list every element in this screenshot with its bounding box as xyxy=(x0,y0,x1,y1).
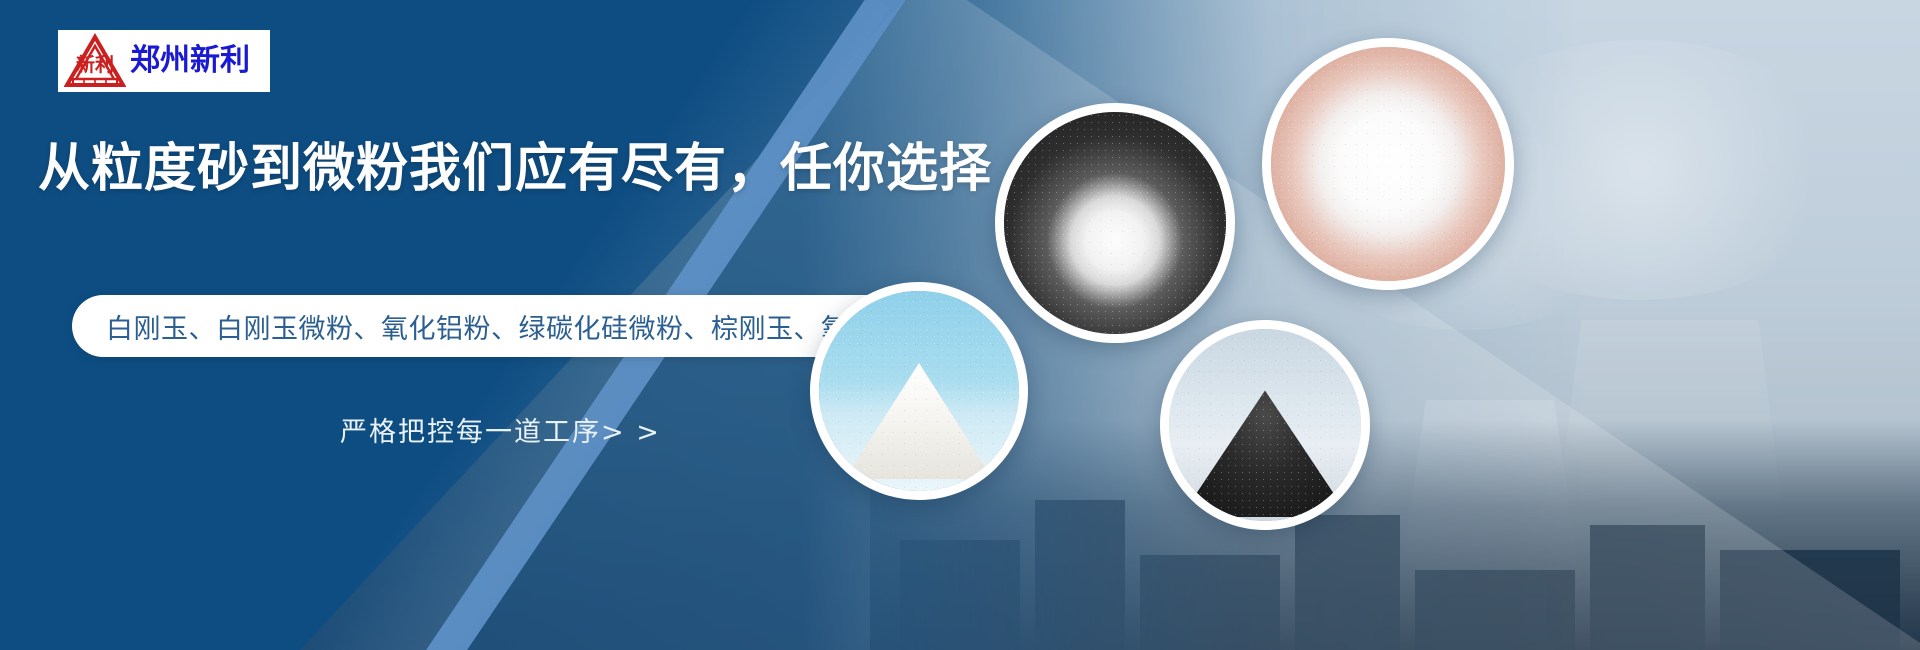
product-image-black-silicon-carbide xyxy=(1160,320,1370,530)
product-image-white-fused-alumina-grain xyxy=(995,103,1235,343)
company-logo[interactable]: 新利 郑州新利 xyxy=(58,30,270,92)
banner-subtitle-cta[interactable]: 严格把控每一道工序> > xyxy=(340,410,661,449)
xinli-triangle-icon: 新利 xyxy=(64,33,126,89)
logo-company-name: 郑州新利 xyxy=(130,46,250,76)
product-image-alumina-powder xyxy=(810,282,1028,500)
logo-mark-text: 新利 xyxy=(76,53,114,76)
promo-banner: 新利 郑州新利 从粒度砂到微粉我们应有尽有，任你选择 白刚玉、白刚玉微粉、氧化铝… xyxy=(0,0,1920,650)
banner-headline: 从粒度砂到微粉我们应有尽有，任你选择 xyxy=(38,140,992,200)
product-image-white-fused-alumina-micropowder xyxy=(1262,38,1514,290)
product-list-text: 白刚玉、白刚玉微粉、氧化铝粉、绿碳化硅微粉、棕刚玉、氧化锆等 xyxy=(106,307,931,346)
